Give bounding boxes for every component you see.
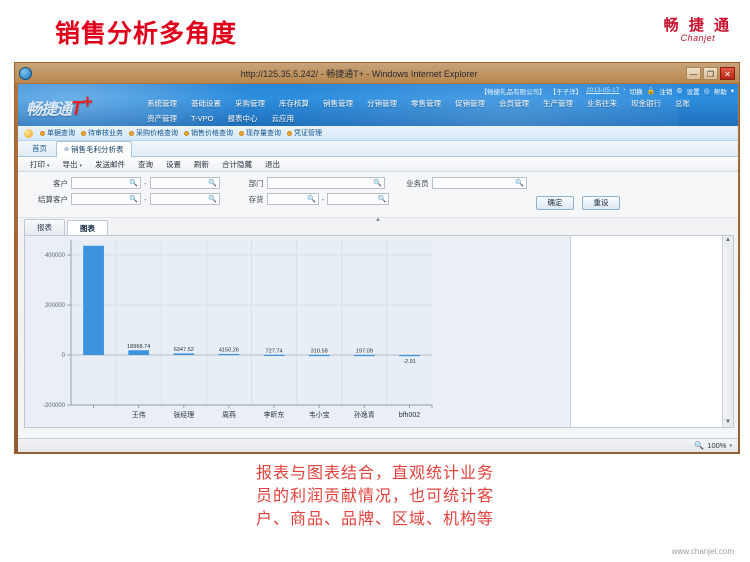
window-title: http://125.35.5.242/ - 畅捷通T+ - Windows I… <box>32 67 686 80</box>
filter-row-1: 客户 🔍 - 🔍 部门 🔍 业务员 🔍 <box>34 177 738 189</box>
login-date: 2013-05-17 <box>586 87 619 94</box>
bullet-icon <box>40 131 45 136</box>
main-menu: 系统管理基础设置采购管理库存核算销售管理分销管理零售管理促销管理会员管理生产管理… <box>140 96 734 126</box>
magnifier-icon[interactable]: 🔍 <box>373 179 382 188</box>
brand-name-cn: 畅 捷 通 <box>664 18 732 34</box>
filter-actions: 确定 重设 <box>536 196 620 210</box>
settle-to-input[interactable]: 🔍 <box>150 193 220 205</box>
app-logo: 畅捷通T+ <box>26 92 92 120</box>
quick-link-label: 单据查询 <box>47 128 75 138</box>
tab-label: 销售毛利分析表 <box>71 144 124 155</box>
quick-link-label: 现存量查询 <box>246 128 281 138</box>
chevron-down-icon[interactable]: ▾ <box>80 163 83 169</box>
caption-line-2: 员的利润贡献情况，也可统计客 <box>0 485 750 508</box>
tab-label: 首页 <box>32 143 47 154</box>
logout-link[interactable]: 注销 <box>659 86 672 96</box>
user-name: 【于子洋】 <box>550 86 583 96</box>
menu-item-3[interactable]: 库存核算 <box>272 96 316 111</box>
footer-url: www.chanjet.com <box>672 547 734 556</box>
toolbar-button-0[interactable]: 打印▾ <box>24 158 56 171</box>
chart-panel: -200000020000040000018968.74王伟6347.52张经理… <box>24 235 734 428</box>
close-button[interactable]: ✕ <box>720 67 735 80</box>
magnifier-icon[interactable]: 🔍 <box>378 195 387 204</box>
view-tabs: 报表图表 <box>24 221 738 235</box>
customer-label: 客户 <box>34 178 68 189</box>
quick-link-label: 销售价格查询 <box>191 128 233 138</box>
bar-7[interactable] <box>399 355 420 356</box>
menu-item-9[interactable]: 生产管理 <box>536 96 580 111</box>
toolbar-label: 导出 <box>63 160 78 169</box>
brand-name-en: Chanjet <box>664 34 732 43</box>
customer-to-input[interactable]: 🔍 <box>150 177 220 189</box>
filter-row-2: 结算客户 🔍 - 🔍 存货 🔍 - 🔍 <box>34 193 738 205</box>
help-icon: ◎ <box>704 87 710 95</box>
bullet-icon <box>287 131 292 136</box>
bullet-icon <box>129 131 134 136</box>
bar-6[interactable] <box>354 355 375 356</box>
filter-panel: 客户 🔍 - 🔍 部门 🔍 业务员 🔍 <box>18 172 738 218</box>
quick-link-0[interactable]: 单据查询 <box>37 128 78 138</box>
magnifier-icon[interactable]: 🔍 <box>307 195 316 204</box>
salesperson-input[interactable]: 🔍 <box>432 177 527 189</box>
salesperson-label: 业务员 <box>395 178 429 189</box>
x-tick-label-5: 韦小宝 <box>309 410 330 419</box>
switch-link[interactable]: 切换 <box>630 86 643 96</box>
ie-icon <box>19 67 32 80</box>
userbar-divider: • <box>623 87 625 94</box>
content-area: ▲ 报表图表 -200000020000040000018968.74王伟634… <box>18 218 738 430</box>
slide-root: 销售分析多角度 畅 捷 通 Chanjet http://125.35.5.24… <box>0 0 750 562</box>
bar-value-label-4: 727.74 <box>266 348 283 354</box>
toolbar-button-2[interactable]: 发送邮件 <box>89 158 131 171</box>
y-tick-label: -200000 <box>43 403 66 409</box>
department-label: 部门 <box>230 178 264 189</box>
help-link[interactable]: 帮助 <box>714 86 727 96</box>
app-logo-text: 畅捷通 <box>26 101 71 118</box>
chart-svg: -200000020000040000018968.74王伟6347.52张经理… <box>25 236 440 427</box>
app-logo-sup: + <box>82 92 92 113</box>
y-tick-label: 400000 <box>45 253 66 259</box>
bar-2[interactable] <box>173 353 194 355</box>
menu-item-4[interactable]: 销售管理 <box>316 96 360 111</box>
toolbar-label: 刷新 <box>194 160 209 169</box>
menu-item-7[interactable]: 促销管理 <box>448 96 492 111</box>
quick-link-2[interactable]: 采购价格查询 <box>126 128 181 138</box>
menu-item-10[interactable]: 业务往来 <box>580 96 624 111</box>
toolbar-label: 打印 <box>30 160 45 169</box>
scroll-down-icon[interactable]: ▼ <box>723 418 733 427</box>
department-filter: 部门 🔍 <box>230 177 385 189</box>
maximize-button[interactable]: ❐ <box>703 67 718 80</box>
quick-link-label: 凭证管理 <box>294 128 322 138</box>
range-dash: - <box>144 195 147 204</box>
menu-item-11[interactable]: 现金银行 <box>624 96 668 111</box>
window-titlebar: http://125.35.5.242/ - 畅捷通T+ - Windows I… <box>15 63 739 83</box>
document-tabs: 首页⊗销售毛利分析表 <box>18 141 738 157</box>
tab-1[interactable]: ⊗销售毛利分析表 <box>56 141 132 157</box>
toolbar-button-7[interactable]: 退出 <box>259 158 286 171</box>
window-controls: — ❐ ✕ <box>686 67 735 80</box>
app-banner: 【畅捷礼品有限公司】 【于子洋】 2013-05-17 • 切换 🔒 注销 ⚙ … <box>18 84 738 126</box>
gear-icon: ⚙ <box>676 87 682 95</box>
settle-customer-label: 结算客户 <box>34 194 68 205</box>
scroll-up-icon[interactable]: ▲ <box>723 236 733 245</box>
bullet-icon <box>184 131 189 136</box>
caption-line-3: 户、商品、品牌、区域、机构等 <box>0 508 750 531</box>
bullet-icon <box>81 131 86 136</box>
inventory-to-input[interactable]: 🔍 <box>327 193 389 205</box>
bar-5[interactable] <box>309 355 330 356</box>
bar-0[interactable] <box>83 246 104 355</box>
menu-item-14[interactable]: T-VPO <box>184 112 221 125</box>
company-name: 【畅捷礼品有限公司】 <box>481 86 546 96</box>
settle-customer-filter: 结算客户 🔍 - 🔍 <box>34 193 220 205</box>
inventory-from-input[interactable]: 🔍 <box>267 193 319 205</box>
confirm-button[interactable]: 确定 <box>536 196 574 210</box>
slide-caption: 报表与图表结合，直观统计业务 员的利润贡献情况，也可统计客 户、商品、品牌、区域… <box>0 462 750 532</box>
app-viewport: 【畅捷礼品有限公司】 【于子洋】 2013-05-17 • 切换 🔒 注销 ⚙ … <box>18 84 738 452</box>
x-tick-label-1: 王伟 <box>132 410 146 419</box>
toolbar-label: 设置 <box>166 160 181 169</box>
quick-link-label: 采购价格查询 <box>136 128 178 138</box>
bar-value-label-2: 6347.52 <box>174 347 194 353</box>
x-tick-label-7: bfh002 <box>399 412 421 419</box>
toolbar-label: 查询 <box>138 160 153 169</box>
magnifier-icon[interactable]: 🔍 <box>208 179 217 188</box>
chevron-down-icon[interactable]: ▾ <box>729 443 732 449</box>
bar-3[interactable] <box>219 354 240 355</box>
menu-item-8[interactable]: 会员管理 <box>492 96 536 111</box>
menu-item-1[interactable]: 基础设置 <box>184 96 228 111</box>
zoom-icon: 🔍 <box>694 441 704 450</box>
range-dash: - <box>144 179 147 188</box>
page-title: 销售分析多角度 <box>55 14 237 50</box>
bar-4[interactable] <box>264 355 285 356</box>
bar-value-label-5: 310.58 <box>311 348 328 354</box>
menu-item-0[interactable]: 系统管理 <box>140 96 184 111</box>
legend-pane <box>570 236 722 427</box>
caption-line-1: 报表与图表结合，直观统计业务 <box>0 462 750 485</box>
close-icon[interactable]: ⊗ <box>64 146 69 153</box>
customer-filter: 客户 🔍 - 🔍 <box>34 177 220 189</box>
bullet-icon <box>239 131 244 136</box>
settings-link[interactable]: 设置 <box>687 86 700 96</box>
report-toolbar: 打印▾导出▾发送邮件查询设置刷新合计隐藏退出 <box>18 157 738 172</box>
bar-value-label-7: -2.91 <box>403 359 416 365</box>
quick-link-1[interactable]: 待审核业务 <box>78 128 126 138</box>
chevron-down-icon[interactable]: ▾ <box>731 87 734 95</box>
x-tick-label-4: 李昕东 <box>264 410 285 419</box>
salesperson-filter: 业务员 🔍 <box>395 177 527 189</box>
toolbar-label: 发送邮件 <box>95 160 125 169</box>
bar-value-label-1: 18968.74 <box>127 344 150 350</box>
customer-from-input[interactable]: 🔍 <box>71 177 141 189</box>
magnifier-icon[interactable]: 🔍 <box>515 179 524 188</box>
quick-links-bar: 单据查询待审核业务采购价格查询销售价格查询现存量查询凭证管理 <box>18 126 738 141</box>
chevron-up-icon[interactable]: ▲ <box>375 217 381 223</box>
toolbar-label: 退出 <box>265 160 280 169</box>
toolbar-button-3[interactable]: 查询 <box>132 158 159 171</box>
panel-splitter[interactable]: ▲ <box>18 217 738 222</box>
toolbar-button-1[interactable]: 导出▾ <box>57 158 89 171</box>
range-dash: - <box>322 195 325 204</box>
department-input[interactable]: 🔍 <box>267 177 385 189</box>
app-logo-tplus: T <box>71 98 82 119</box>
menu-item-13[interactable]: 资产管理 <box>140 111 184 126</box>
zoom-level: 100% <box>707 441 726 450</box>
y-tick-label: 200000 <box>45 303 66 309</box>
menu-item-15[interactable]: 报表中心 <box>221 111 265 126</box>
quick-link-3[interactable]: 销售价格查询 <box>181 128 236 138</box>
quick-link-4[interactable]: 现存量查询 <box>236 128 284 138</box>
magnifier-icon[interactable]: 🔍 <box>208 195 217 204</box>
magnifier-icon[interactable]: 🔍 <box>129 195 138 204</box>
view-tab-1[interactable]: 图表 <box>67 220 108 236</box>
bar-value-label-6: 197.09 <box>356 348 373 354</box>
menu-item-12[interactable]: 总账 <box>668 96 697 111</box>
inventory-label: 存货 <box>230 194 264 205</box>
minimize-button[interactable]: — <box>686 67 701 80</box>
vertical-scrollbar[interactable]: ▲ ▼ <box>722 236 733 427</box>
y-tick-label: 0 <box>62 353 66 359</box>
menu-item-2[interactable]: 采购管理 <box>228 96 272 111</box>
status-bar: 🔍 100% ▾ <box>18 438 738 452</box>
x-tick-label-6: 孙逸青 <box>354 410 375 419</box>
reset-button[interactable]: 重设 <box>582 196 620 210</box>
user-bar: 【畅捷礼品有限公司】 【于子洋】 2013-05-17 • 切换 🔒 注销 ⚙ … <box>481 85 734 96</box>
magnifier-icon[interactable]: 🔍 <box>129 179 138 188</box>
menu-item-6[interactable]: 零售管理 <box>404 96 448 111</box>
brand-logo: 畅 捷 通 Chanjet <box>664 18 732 43</box>
chevron-down-icon[interactable]: ▾ <box>47 163 50 169</box>
settle-from-input[interactable]: 🔍 <box>71 193 141 205</box>
menu-item-5[interactable]: 分销管理 <box>360 96 404 111</box>
toolbar-label: 合计隐藏 <box>222 160 252 169</box>
x-tick-label-2: 张经理 <box>173 410 194 419</box>
star-icon <box>24 129 33 138</box>
desktop-backdrop: http://125.35.5.242/ - 畅捷通T+ - Windows I… <box>14 62 740 454</box>
menu-item-16[interactable]: 云应用 <box>265 111 302 126</box>
bar-value-label-3: 4150.26 <box>219 347 239 353</box>
quick-link-label: 待审核业务 <box>88 128 123 138</box>
toolbar-button-6[interactable]: 合计隐藏 <box>216 158 258 171</box>
toolbar-button-4[interactable]: 设置 <box>160 158 187 171</box>
inventory-filter: 存货 🔍 - 🔍 <box>230 193 390 205</box>
toolbar-button-5[interactable]: 刷新 <box>188 158 215 171</box>
bar-1[interactable] <box>128 350 149 355</box>
quick-link-5[interactable]: 凭证管理 <box>284 128 325 138</box>
bar-chart: -200000020000040000018968.74王伟6347.52张经理… <box>25 236 570 427</box>
tab-0[interactable]: 首页 <box>24 140 55 156</box>
lock-icon: 🔒 <box>647 87 656 95</box>
x-tick-label-3: 周燕 <box>222 410 236 419</box>
